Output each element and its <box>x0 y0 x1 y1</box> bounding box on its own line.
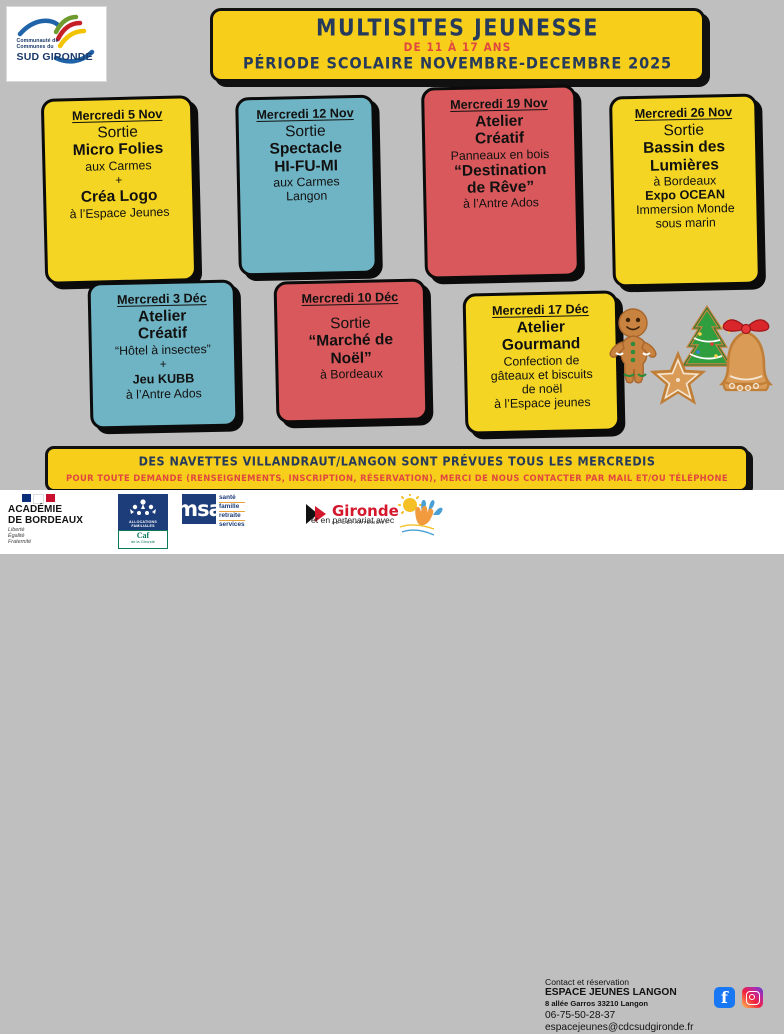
event-line: + <box>160 357 167 373</box>
event-line: Atelier <box>475 113 524 131</box>
event-line: à Bordeaux <box>320 366 383 381</box>
caf-sub: de la Gironde <box>119 540 167 544</box>
event-line: “Destination <box>454 161 546 180</box>
event-date: Mercredi 3 Déc <box>117 291 207 307</box>
event-line: sous marin <box>655 216 715 231</box>
footer: ACADÉMIE DE BORDEAUX Liberté Égalité Fra… <box>0 490 784 554</box>
contact-instruction-line: POUR TOUTE DEMANDE (RENSEIGNEMENTS, INSC… <box>66 473 728 484</box>
event-line: Micro Folies <box>73 140 164 160</box>
event-line: Gourmand <box>502 336 581 355</box>
event-card-1: Mercredi 5 Nov Sortie Micro Folies aux C… <box>41 95 197 285</box>
contact-place: ESPACE JEUNES LANGON <box>545 987 694 999</box>
gingerbread-man-icon <box>610 309 656 383</box>
poster-period: PÉRIODE SCOLAIRE NOVEMBRE-DECEMBRE 2025 <box>243 55 672 73</box>
event-line: à l’Antre Ados <box>463 196 539 212</box>
event-line: aux Carmes <box>273 174 340 189</box>
event-date: Mercredi 17 Déc <box>492 302 589 318</box>
event-line: Créatif <box>475 130 524 148</box>
academie-line2: DE BORDEAUX <box>8 516 104 527</box>
event-line: Sortie <box>330 315 371 333</box>
caf-emblem-icon <box>118 494 168 520</box>
event-line: gâteaux et biscuits <box>491 367 593 383</box>
cdc-logo-subtitle: Communauté de Communes du <box>17 38 59 51</box>
event-line: Bassin des <box>643 139 725 158</box>
event-line: Immersion Monde <box>636 201 735 217</box>
instagram-glyph <box>746 991 760 1005</box>
poster-age-range: DE 11 À 17 ANS <box>404 42 512 55</box>
event-line: “Marché de <box>308 331 393 350</box>
msa-line-sante: santé <box>219 495 245 503</box>
event-date: Mercredi 12 Nov <box>256 106 354 122</box>
event-line: Sortie <box>97 124 138 142</box>
event-date: Mercredi 19 Nov <box>450 96 548 112</box>
event-card-3: Mercredi 19 Nov Atelier Créatif Panneaux… <box>421 84 580 279</box>
academie-bordeaux-logo: ACADÉMIE DE BORDEAUX Liberté Égalité Fra… <box>8 494 104 545</box>
event-line: à l’Espace jeunes <box>494 395 591 411</box>
event-line: aux Carmes <box>85 158 152 174</box>
event-card-7: Mercredi 17 Déc Atelier Gourmand Confect… <box>463 290 621 434</box>
instagram-icon[interactable] <box>742 987 763 1008</box>
contact-heading: Contact et réservation <box>545 977 694 987</box>
cdc-logo-name: SUD GIRONDE <box>17 51 93 63</box>
facebook-icon[interactable]: f <box>714 987 735 1008</box>
caf-gironde-logo: ALLOCATIONS FAMILIALES Caf de la Gironde <box>118 494 168 549</box>
partner-sun-hand-logo <box>392 494 450 542</box>
title-banner: MULTISITES JEUNESSE DE 11 À 17 ANS PÉRIO… <box>210 8 705 82</box>
msa-line-famille: famille <box>219 504 245 512</box>
event-line: Spectacle <box>269 140 342 159</box>
event-date: Mercredi 5 Nov <box>72 107 163 123</box>
event-line: de Rêve” <box>467 178 535 197</box>
shuttle-info-banner: DES NAVETTES VILLANDRAUT/LANGON SONT PRÉ… <box>45 446 749 492</box>
cdc-sud-gironde-logo: Communauté de Communes du SUD GIRONDE <box>6 6 107 82</box>
social-links: f <box>714 987 763 1008</box>
partnership-label: et en partenariat avec <box>311 515 394 525</box>
event-card-2: Mercredi 12 Nov Sortie Spectacle HI-FU-M… <box>235 95 378 277</box>
event-card-6: Mercredi 10 Déc Sortie “Marché de Noël” … <box>274 278 429 423</box>
shuttle-info-line: DES NAVETTES VILLANDRAUT/LANGON SONT PRÉ… <box>139 454 656 468</box>
event-line: à Bordeaux <box>653 173 716 188</box>
event-line: Créatif <box>138 325 187 343</box>
event-line: “Hôtel à insectes” <box>115 342 211 358</box>
event-date: Mercredi 26 Nov <box>635 105 733 121</box>
event-line: Atelier <box>138 308 187 326</box>
contact-block: Contact et réservation ESPACE JEUNES LAN… <box>545 977 694 1034</box>
event-line: à l’Antre Ados <box>126 386 202 402</box>
event-date: Mercredi 10 Déc <box>301 290 398 306</box>
caf-top-label: ALLOCATIONS FAMILIALES <box>118 520 168 528</box>
event-line: Sortie <box>285 123 326 141</box>
event-line: + <box>115 173 122 189</box>
msa-logo: msa santé famille retraite services <box>182 494 290 530</box>
event-card-5: Mercredi 3 Déc Atelier Créatif “Hôtel à … <box>87 279 238 429</box>
event-line: à l’Espace Jeunes <box>69 204 169 220</box>
french-flag-icon <box>22 494 104 504</box>
msa-mark-icon: msa <box>182 494 216 524</box>
poster-title: MULTISITES JEUNESSE <box>316 16 599 40</box>
contact-address: 8 allée Garros 33210 Langon <box>545 999 694 1009</box>
bell-cookie-icon <box>722 320 770 391</box>
event-line: Lumières <box>650 156 719 175</box>
contact-phone[interactable]: 06-75-50-28-37 <box>545 1009 694 1022</box>
event-line: Sortie <box>663 122 704 140</box>
msa-line-services: services <box>219 522 245 529</box>
event-line: Noël” <box>330 349 372 367</box>
event-line: Atelier <box>516 319 565 337</box>
msa-line-retraite: retraite <box>219 513 245 521</box>
facebook-glyph: f <box>721 988 728 1008</box>
event-line: Jeu KUBB <box>133 372 195 388</box>
academie-line1: ACADÉMIE <box>8 505 104 516</box>
event-line: Créa Logo <box>81 187 158 206</box>
poster-root: Communauté de Communes du SUD GIRONDE MU… <box>0 0 784 554</box>
event-line: HI-FU-MI <box>274 157 338 176</box>
event-line: Langon <box>286 189 327 204</box>
cdc-logo-line2: Communes du <box>17 44 59 50</box>
devise-republique: Liberté Égalité Fraternité <box>8 528 104 545</box>
contact-email[interactable]: espacejeunes@cdcsudgironde.fr <box>545 1022 694 1034</box>
event-card-4: Mercredi 26 Nov Sortie Bassin des Lumièr… <box>609 93 761 287</box>
event-line: de noël <box>522 381 563 396</box>
christmas-cookies-decoration <box>606 298 784 408</box>
